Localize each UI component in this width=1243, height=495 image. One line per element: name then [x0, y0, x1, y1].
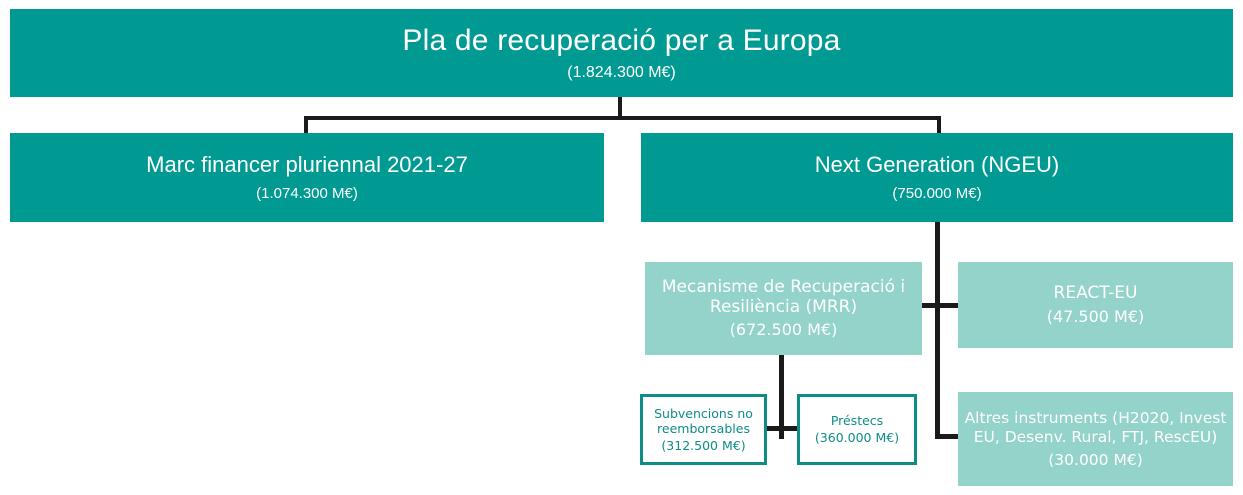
connector-plan-bus: [304, 116, 941, 120]
node-prestecs-amount: (360.000 M€): [815, 431, 899, 446]
node-ngeu[interactable]: Next Generation (NGEU) (750.000 M€): [641, 133, 1233, 222]
connector-mrr-bus: [762, 426, 801, 431]
node-subvencions-amount: (312.500 M€): [661, 439, 745, 454]
connector-to-mfp: [304, 116, 308, 134]
diagram-canvas: Pla de recuperació per a Europa (1.824.3…: [0, 0, 1243, 495]
node-mfp[interactable]: Marc financer pluriennal 2021-27 (1.074.…: [10, 133, 604, 222]
node-subvencions[interactable]: Subvencions no reemborsables (312.500 M€…: [640, 394, 767, 465]
connector-to-ngeu: [937, 116, 941, 134]
node-prestecs[interactable]: Préstecs (360.000 M€): [797, 394, 917, 465]
node-react-eu-amount: (47.500 M€): [1047, 308, 1145, 327]
node-recovery-plan-title: Pla de recuperació per a Europa: [402, 23, 840, 58]
node-subvencions-title: Subvencions no reemborsables: [647, 406, 760, 437]
node-react-eu-title: REACT-EU: [1054, 283, 1138, 303]
node-mrr-amount: (672.500 M€): [730, 321, 838, 340]
node-recovery-plan-amount: (1.824.300 M€): [567, 64, 676, 83]
node-mfp-amount: (1.074.300 M€): [256, 185, 358, 203]
connector-plan-stem: [618, 96, 622, 118]
node-ngeu-title: Next Generation (NGEU): [815, 152, 1060, 178]
node-mrr[interactable]: Mecanisme de Recuperació i Resiliència (…: [645, 262, 922, 355]
node-altres-instruments-amount: (30.000 M€): [1048, 451, 1143, 469]
node-recovery-plan[interactable]: Pla de recuperació per a Europa (1.824.3…: [10, 9, 1233, 97]
node-altres-instruments-title: Altres instruments (H2020, Invest EU, De…: [964, 409, 1227, 447]
node-altres-instruments[interactable]: Altres instruments (H2020, Invest EU, De…: [958, 392, 1233, 486]
node-ngeu-amount: (750.000 M€): [892, 185, 981, 203]
connector-ngeu-spine: [935, 222, 940, 439]
node-mrr-title: Mecanisme de Recuperació i Resiliència (…: [649, 277, 918, 318]
node-mfp-title: Marc financer pluriennal 2021-27: [146, 152, 468, 178]
node-prestecs-title: Préstecs: [831, 413, 883, 429]
node-react-eu[interactable]: REACT-EU (47.500 M€): [958, 262, 1233, 348]
